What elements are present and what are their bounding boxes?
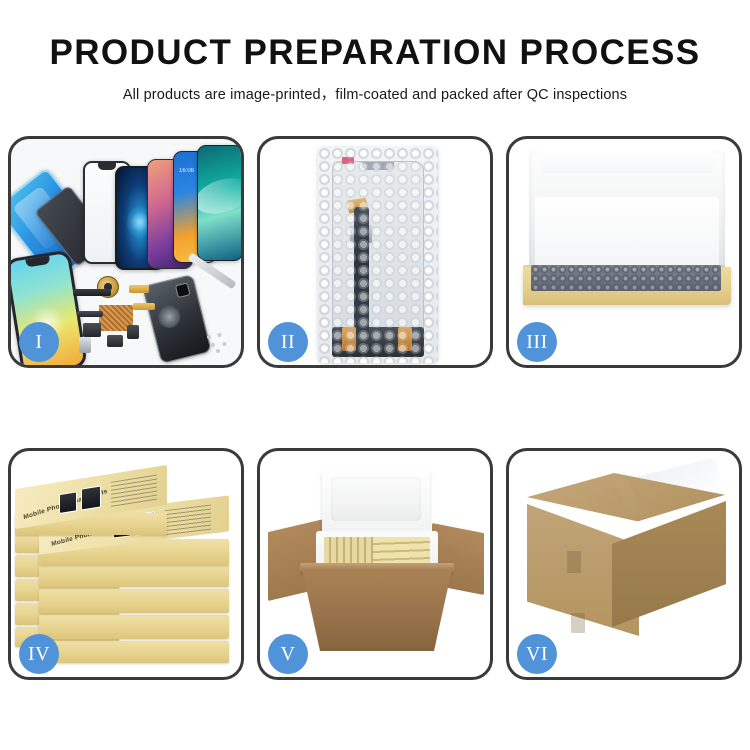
carton-face-right <box>612 501 726 627</box>
bubble-wrapped-contents <box>531 265 721 291</box>
bubble-wrap-bag <box>318 147 438 363</box>
wireless-charging-coil <box>156 303 183 330</box>
step-badge-5: V <box>268 634 308 674</box>
process-step-grid: 16:08 I <box>8 136 742 681</box>
carton-seam-upper <box>567 551 581 573</box>
step-badge-3: III <box>517 322 557 362</box>
stacked-box-bottom-right-2 <box>39 615 229 639</box>
process-step-panel-3[interactable]: III <box>506 136 742 368</box>
gold-connector-left <box>342 327 356 351</box>
stacked-box-bottom-right-1 <box>39 641 229 663</box>
phone-back-housing <box>142 274 212 364</box>
antenna-flex-part <box>133 303 155 310</box>
earpiece-speaker-part <box>73 289 111 296</box>
box-spec-lines-1 <box>111 475 157 508</box>
stacked-box-bottom-right-4 <box>39 563 229 587</box>
gold-connector-right <box>398 327 412 351</box>
phone-clock-label: 16:08 <box>179 168 194 174</box>
stacked-box-bottom-right-3 <box>39 589 229 613</box>
product-preparation-page: PRODUCT PREPARATION PROCESS All products… <box>0 0 750 750</box>
step-badge-2: II <box>268 322 308 362</box>
foam-insert <box>535 197 719 267</box>
button-part <box>127 325 139 339</box>
foam-box-lid <box>322 469 430 535</box>
step-badge-6: VI <box>517 634 557 674</box>
box-window-screen-b1 <box>81 485 101 510</box>
process-step-panel-1[interactable]: 16:08 I <box>8 136 244 368</box>
lcd-flex-cable <box>354 207 369 335</box>
sealed-carton <box>527 473 725 645</box>
process-step-panel-6[interactable]: VI <box>506 448 742 680</box>
vibrator-part <box>107 335 123 347</box>
carton-body <box>302 569 452 651</box>
page-title: PRODUCT PREPARATION PROCESS <box>0 33 750 73</box>
header: PRODUCT PREPARATION PROCESS All products… <box>0 33 750 104</box>
flex-ribbon-part <box>77 311 103 317</box>
step-badge-1: I <box>19 322 59 362</box>
gold-flex-part <box>129 285 149 293</box>
step-badge-4: IV <box>19 634 59 674</box>
process-step-panel-5[interactable]: V <box>257 448 493 680</box>
page-subtitle: All products are image-printed，film-coat… <box>0 83 750 104</box>
camera-module <box>175 282 191 298</box>
connector-part <box>83 323 101 337</box>
teal-gradient-screen <box>197 145 241 261</box>
box-window-screen-a1 <box>59 491 77 514</box>
screws-group <box>205 333 231 353</box>
carton-seam-lower <box>571 613 585 633</box>
process-step-panel-2[interactable]: II <box>257 136 493 368</box>
box-spec-lines-2 <box>165 505 211 537</box>
sim-tray-part <box>79 337 91 353</box>
lcd-screen-inside <box>332 161 424 351</box>
process-step-panel-4[interactable]: Mobile Phone Spare Parts Mobile Phone Sp… <box>8 448 244 680</box>
pink-label-tab <box>342 157 354 164</box>
